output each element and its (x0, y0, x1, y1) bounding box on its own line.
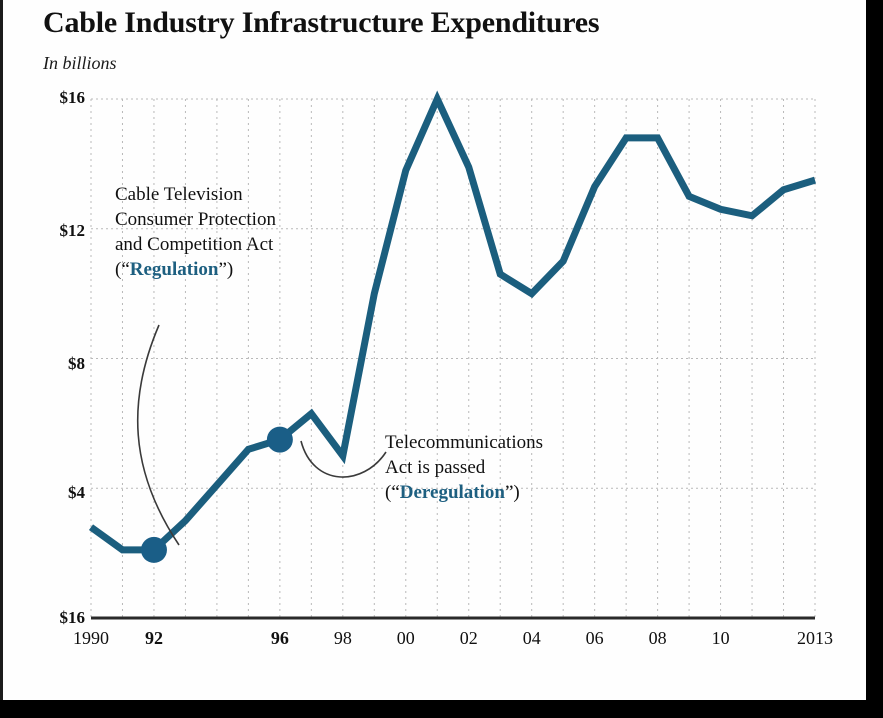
annotation-dereg-line2: Act is passed (385, 457, 485, 478)
annotation-dereg-keyword: Deregulation (400, 482, 505, 503)
annotation-reg-prefix: (“ (115, 259, 130, 280)
annotation-dereg-line1: Telecommunications (385, 432, 543, 453)
data-point-marker (141, 537, 167, 563)
x-tick-label: 10 (681, 628, 761, 649)
annotation-reg-line3: and Competition Act (115, 234, 273, 255)
annotation-deregulation: Telecommunications Act is passed (“Dereg… (385, 430, 625, 505)
annotation-dereg-suffix: ”) (505, 482, 520, 503)
annotation-regulation: Cable Television Consumer Protection and… (115, 182, 365, 282)
annotation-dereg-prefix: (“ (385, 482, 400, 503)
chart-sheet: Cable Industry Infrastructure Expenditur… (0, 0, 866, 700)
annotation-reg-keyword: Regulation (130, 259, 219, 280)
chart-page: Cable Industry Infrastructure Expenditur… (0, 0, 883, 718)
y-tick-label: $12 (25, 221, 85, 241)
data-point-marker (267, 427, 293, 453)
y-tick-label: $4 (25, 483, 85, 503)
y-tick-label: $16 (25, 88, 85, 108)
annotation-reg-line1: Cable Television (115, 184, 243, 205)
y-tick-label: $16 (25, 608, 85, 628)
x-tick-label: 2013 (775, 628, 855, 649)
line-chart-svg (3, 0, 869, 700)
y-tick-label: $8 (25, 354, 85, 374)
x-tick-label: 92 (114, 628, 194, 649)
annotation-reg-suffix: ”) (218, 259, 233, 280)
annotation-reg-line2: Consumer Protection (115, 209, 276, 230)
